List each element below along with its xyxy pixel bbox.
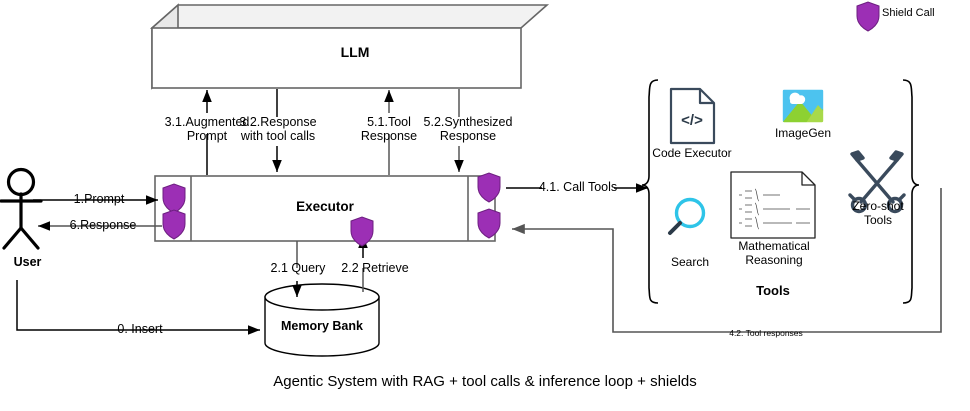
tools-group-brace-right xyxy=(903,80,919,303)
llm-label: LLM xyxy=(160,44,550,60)
shield-icon-legend xyxy=(857,2,879,31)
tools-group-label: Tools xyxy=(718,283,828,298)
user-label: User xyxy=(0,255,55,269)
edge-insert xyxy=(17,280,260,330)
crossed-wrenches-icon xyxy=(850,152,904,212)
executor-label: Executor xyxy=(180,199,470,214)
diagram-caption: Agentic System with RAG + tool calls & i… xyxy=(0,373,970,390)
formula-document-icon xyxy=(731,172,815,238)
diagram-vectors: </> xyxy=(0,0,970,411)
image-icon xyxy=(782,89,824,123)
memory-bank-label: Memory Bank xyxy=(262,319,382,333)
edge-tool-responses xyxy=(512,188,941,332)
diagram-canvas: </> xyxy=(0,0,970,411)
tools-group-brace-left xyxy=(642,80,658,303)
code-document-icon: </> xyxy=(671,89,714,143)
user-actor-icon xyxy=(1,170,41,249)
magnifier-icon xyxy=(670,200,704,234)
legend-shield-label: Shield Call xyxy=(882,7,935,19)
svg-text:</>: </> xyxy=(681,112,703,129)
